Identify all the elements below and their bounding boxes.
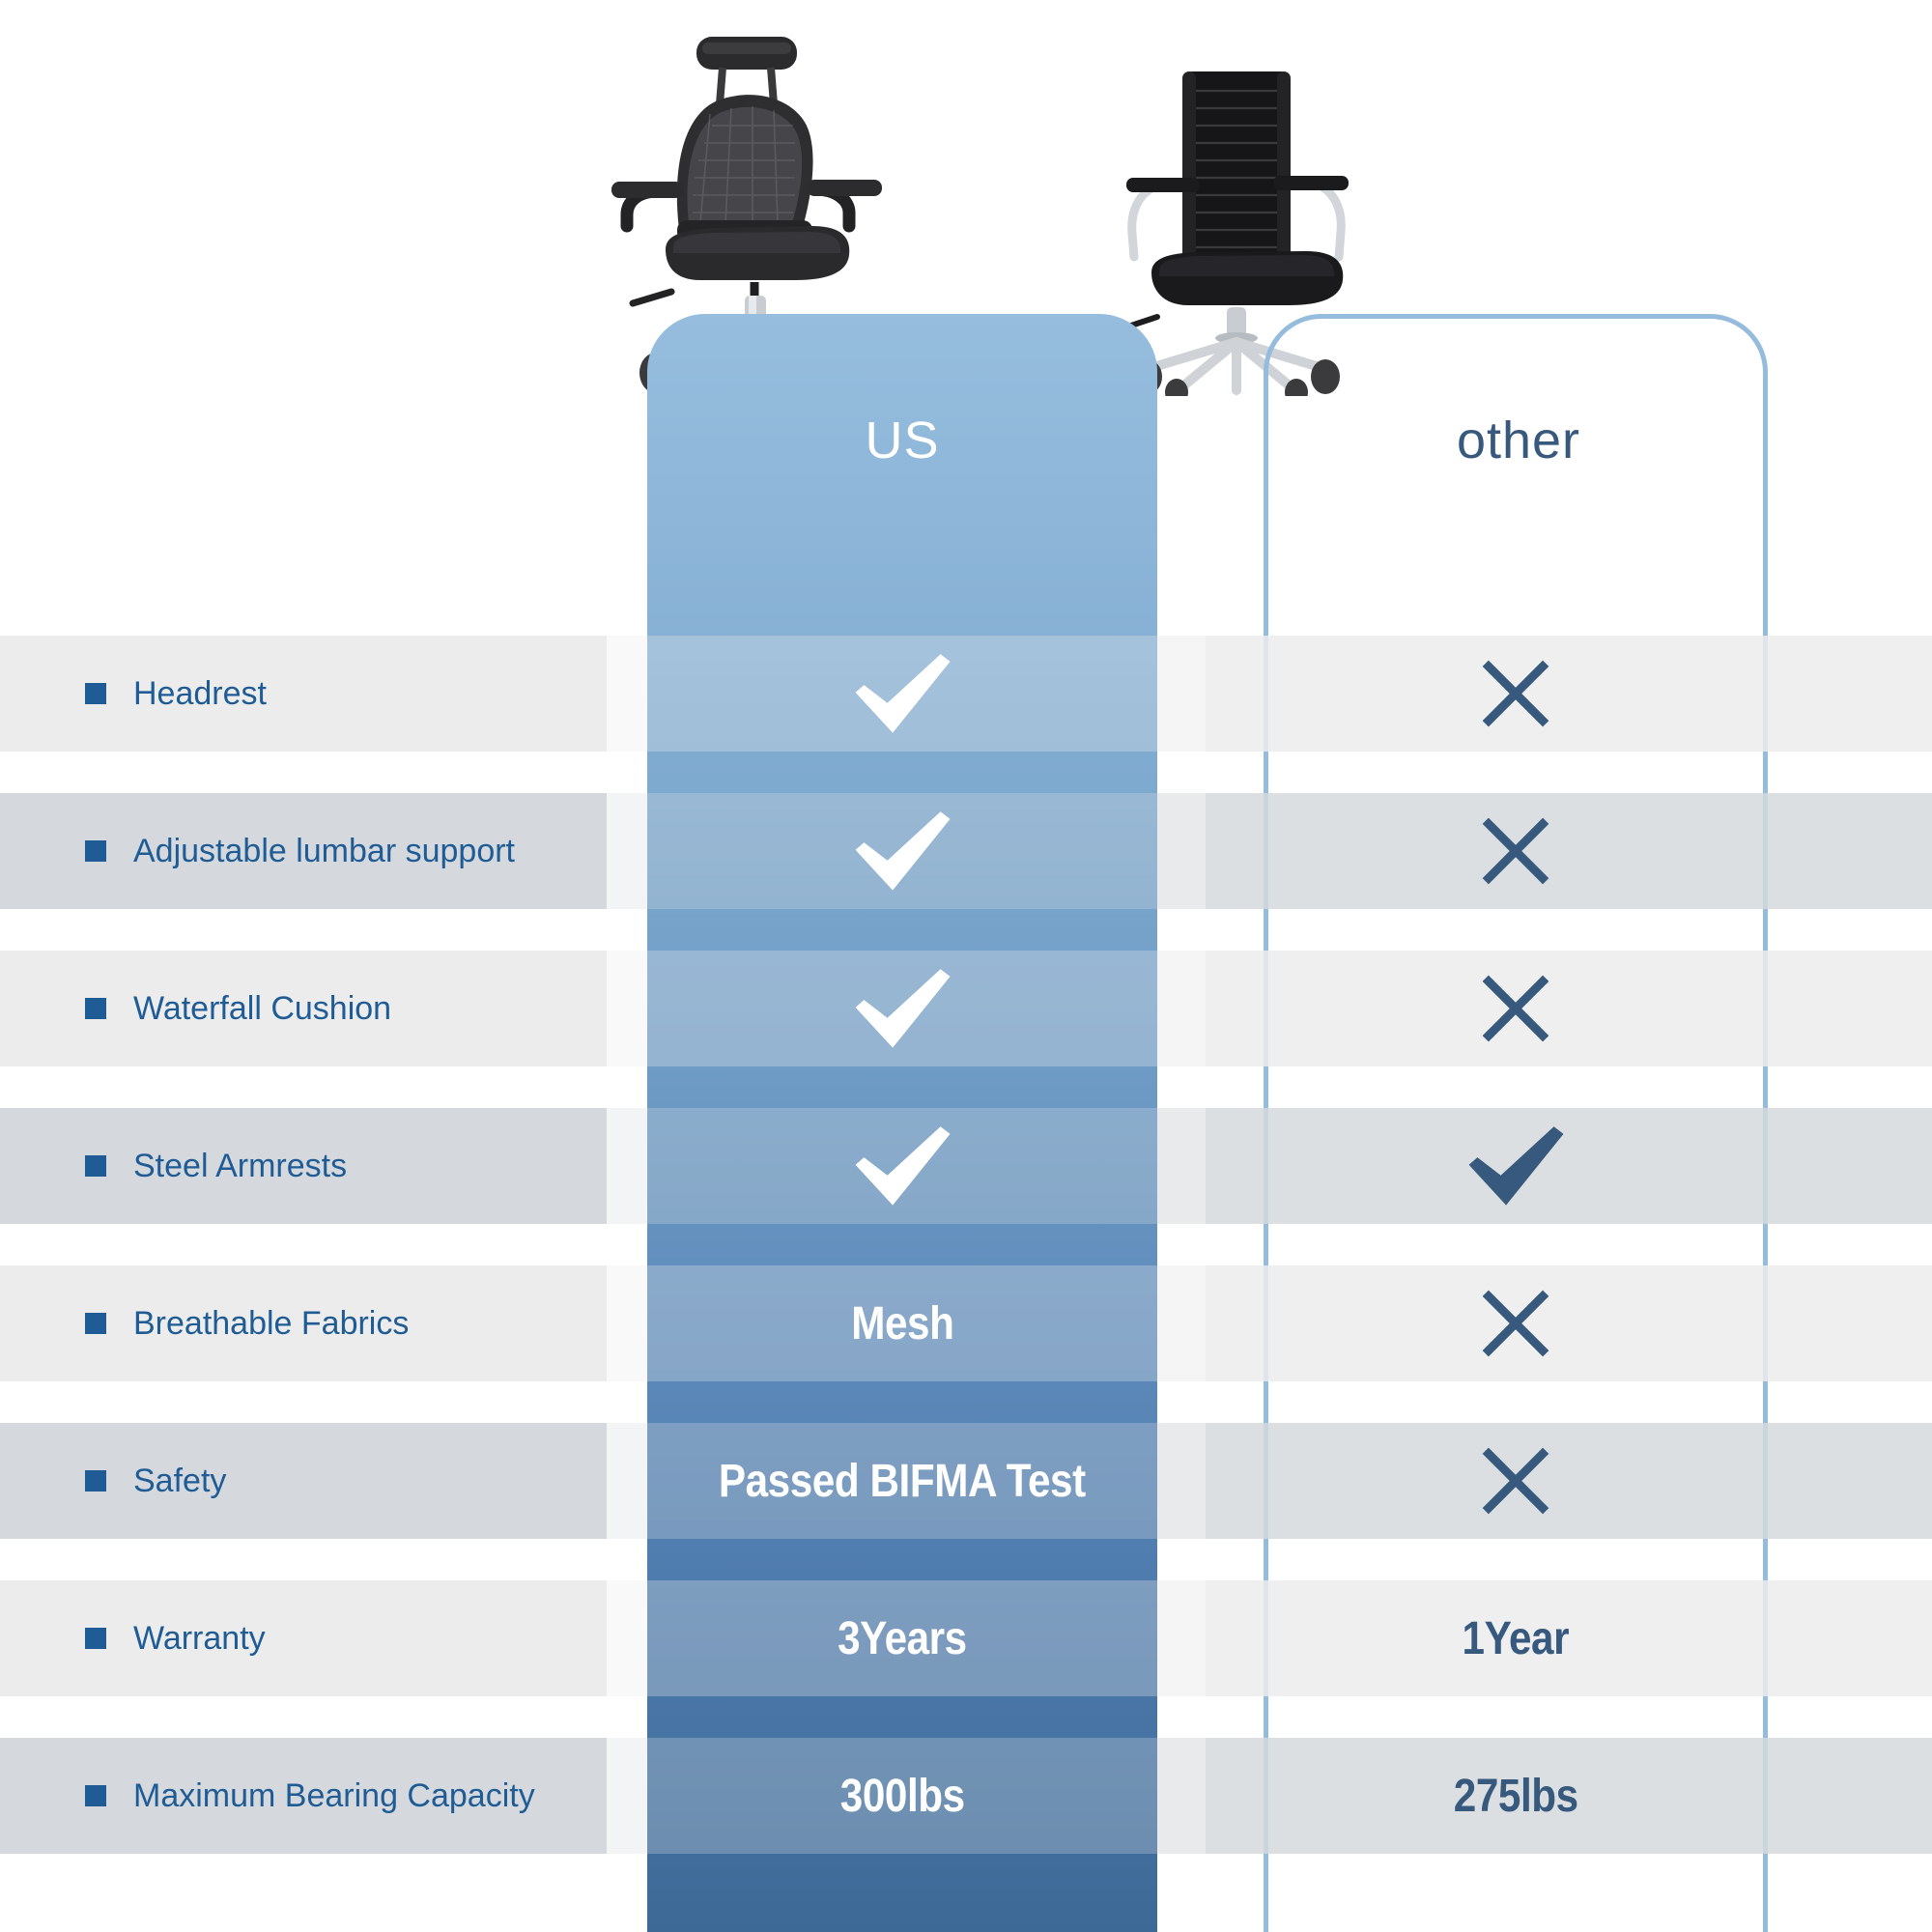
row-band-gap xyxy=(1157,1423,1206,1539)
cell-other xyxy=(1264,1265,1768,1381)
cell-other xyxy=(1264,1108,1768,1224)
feature-label-text: Adjustable lumbar support xyxy=(133,833,515,870)
cell-other xyxy=(1264,636,1768,752)
cell-other: 1Year xyxy=(1264,1580,1768,1696)
table-row: Waterfall Cushion xyxy=(0,951,1932,1066)
cell-value-us: Mesh xyxy=(851,1297,953,1350)
cell-us xyxy=(647,951,1157,1066)
feature-label-text: Waterfall Cushion xyxy=(133,990,391,1028)
table-row: SafetyPassed BIFMA Test xyxy=(0,1423,1932,1539)
feature-label-text: Headrest xyxy=(133,675,267,713)
row-band-gap xyxy=(1157,636,1206,752)
check-icon xyxy=(849,652,955,735)
cell-value-us: 3Years xyxy=(838,1612,967,1665)
check-icon xyxy=(849,1124,955,1207)
cross-icon xyxy=(1478,813,1553,889)
feature-label-text: Safety xyxy=(133,1463,226,1500)
feature-label-row: Warranty xyxy=(85,1580,266,1696)
cell-value-other: 1Year xyxy=(1463,1612,1570,1665)
bullet-square-icon xyxy=(85,1628,106,1649)
feature-label-row: Safety xyxy=(85,1423,226,1539)
row-band-gap xyxy=(1157,1108,1206,1224)
check-icon xyxy=(1463,1124,1569,1207)
feature-label-text: Warranty xyxy=(133,1620,266,1658)
bullet-square-icon xyxy=(85,1155,106,1177)
bullet-square-icon xyxy=(85,1470,106,1492)
cell-value-other: 275lbs xyxy=(1454,1770,1578,1823)
feature-label-row: Adjustable lumbar support xyxy=(85,793,515,909)
bullet-square-icon xyxy=(85,840,106,862)
table-row: Steel Armrests xyxy=(0,1108,1932,1224)
column-header-us: US xyxy=(647,411,1157,470)
cell-value-us: 300lbs xyxy=(840,1770,965,1823)
cell-us: Mesh xyxy=(647,1265,1157,1381)
table-row: Headrest xyxy=(0,636,1932,752)
cell-us: 3Years xyxy=(647,1580,1157,1696)
cell-us: 300lbs xyxy=(647,1738,1157,1854)
table-row: Adjustable lumbar support xyxy=(0,793,1932,909)
check-icon xyxy=(849,967,955,1050)
row-band-gap xyxy=(1157,951,1206,1066)
row-band-gap xyxy=(1157,1580,1206,1696)
row-band-gap xyxy=(1157,793,1206,909)
feature-label-row: Waterfall Cushion xyxy=(85,951,391,1066)
cell-us: Passed BIFMA Test xyxy=(647,1423,1157,1539)
table-row: Maximum Bearing Capacity300lbs275lbs xyxy=(0,1738,1932,1854)
cell-us xyxy=(647,1108,1157,1224)
bullet-square-icon xyxy=(85,1313,106,1334)
feature-label-row: Breathable Fabrics xyxy=(85,1265,409,1381)
cell-other: 275lbs xyxy=(1264,1738,1768,1854)
feature-label-row: Headrest xyxy=(85,636,267,752)
comparison-chart: US other HeadrestAdjustable lumbar suppo… xyxy=(0,0,1932,1932)
feature-label-text: Steel Armrests xyxy=(133,1148,347,1185)
cell-other xyxy=(1264,1423,1768,1539)
table-row: Breathable FabricsMesh xyxy=(0,1265,1932,1381)
row-band-gap xyxy=(1157,1265,1206,1381)
cell-other xyxy=(1264,951,1768,1066)
row-band-gap xyxy=(1157,1738,1206,1854)
bullet-square-icon xyxy=(85,998,106,1019)
check-icon xyxy=(849,810,955,893)
cell-us xyxy=(647,636,1157,752)
feature-label-text: Breathable Fabrics xyxy=(133,1305,409,1343)
cross-icon xyxy=(1478,1286,1553,1361)
column-header-other: other xyxy=(1264,411,1774,470)
feature-label-row: Maximum Bearing Capacity xyxy=(85,1738,535,1854)
cell-value-us: Passed BIFMA Test xyxy=(719,1455,1086,1508)
feature-label-text: Maximum Bearing Capacity xyxy=(133,1777,535,1815)
cross-icon xyxy=(1478,656,1553,731)
cross-icon xyxy=(1478,971,1553,1046)
bullet-square-icon xyxy=(85,1785,106,1806)
cross-icon xyxy=(1478,1443,1553,1519)
feature-label-row: Steel Armrests xyxy=(85,1108,347,1224)
cell-us xyxy=(647,793,1157,909)
bullet-square-icon xyxy=(85,683,106,704)
table-row: Warranty3Years1Year xyxy=(0,1580,1932,1696)
cell-other xyxy=(1264,793,1768,909)
